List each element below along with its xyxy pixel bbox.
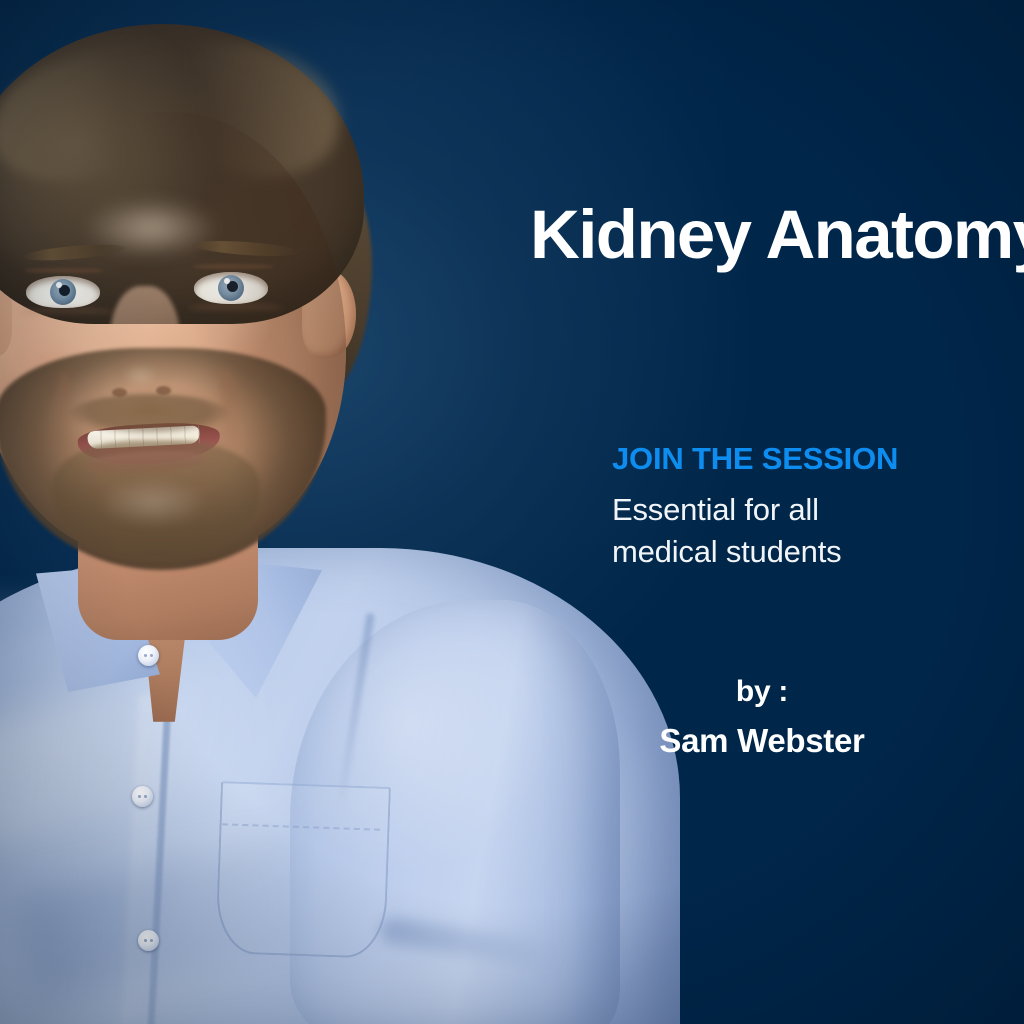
presenter-name: Sam Webster — [612, 715, 912, 767]
byline: by : Sam Webster — [612, 668, 912, 768]
subtitle-line-2: medical students — [612, 531, 982, 573]
byline-label: by : — [736, 675, 788, 708]
poster-subtitle: Essential for all medical students — [612, 489, 982, 573]
text-column: Kidney Anatomy JOIN THE SESSION Essentia… — [612, 0, 992, 1024]
call-to-action-kicker: JOIN THE SESSION — [612, 442, 898, 476]
promo-poster: Kidney Anatomy JOIN THE SESSION Essentia… — [0, 0, 1024, 1024]
poster-title: Kidney Anatomy — [530, 200, 1000, 270]
subtitle-line-1: Essential for all — [612, 489, 982, 531]
